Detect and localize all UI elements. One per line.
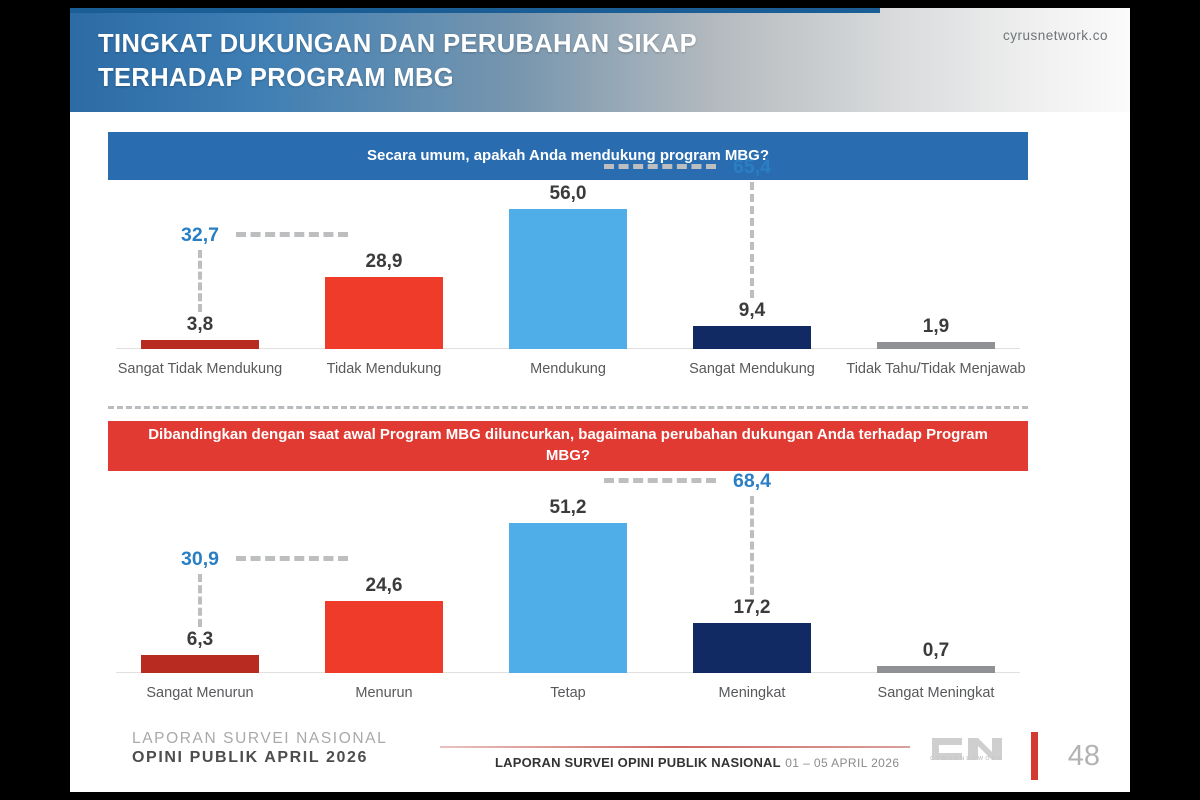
bar[interactable] <box>877 342 995 349</box>
bar[interactable] <box>141 655 259 673</box>
bar-group: 1,9Tidak Tahu/Tidak Menjawab <box>844 184 1028 406</box>
combined-value-label: 30,9 <box>181 548 219 571</box>
bar[interactable] <box>325 601 443 673</box>
page-title-line-2: TERHADAP PROGRAM MBG <box>98 62 858 96</box>
slide-header: TINGKAT DUKUNGAN DAN PERUBAHAN SIKAP TER… <box>70 8 1130 112</box>
bar-value-label: 3,8 <box>187 314 213 336</box>
category-label: Mendukung <box>476 361 661 379</box>
bar[interactable] <box>693 326 811 350</box>
footer-caption-date: 01 – 05 APRIL 2026 <box>785 756 899 770</box>
footer-report-name-line-2: OPINI PUBLIK APRIL 2026 <box>132 749 368 767</box>
chart-attitude-change: 6,3Sangat Menurun24,6Menurun51,2Tetap17,… <box>108 478 1028 718</box>
bar[interactable] <box>509 523 627 673</box>
bar-value-label: 17,2 <box>734 597 771 619</box>
category-label: Tidak Mendukung <box>292 361 477 379</box>
bar-value-label: 1,9 <box>923 316 949 338</box>
bar[interactable] <box>325 277 443 349</box>
footer-report-name-line-1: LAPORAN SURVEI NASIONAL <box>132 730 387 748</box>
logo-wordmark: CYRUSNETWORK <box>930 756 1004 762</box>
section-divider <box>108 406 1028 409</box>
bar[interactable] <box>141 340 259 350</box>
combined-value-label: 32,7 <box>181 224 219 247</box>
bar-group: 51,2Tetap <box>476 478 660 718</box>
bar-group: 0,7Sangat Meningkat <box>844 478 1028 718</box>
bar-value-label: 51,2 <box>550 497 587 519</box>
combined-value-connector-vertical <box>750 182 754 298</box>
bar-value-label: 6,3 <box>187 629 213 651</box>
category-label: Meningkat <box>660 685 845 703</box>
bar-value-label: 9,4 <box>739 300 765 322</box>
footer-rule <box>440 746 910 748</box>
combined-value-connector-vertical <box>198 250 202 312</box>
bar-group: 24,6Menurun <box>292 478 476 718</box>
chart-support-level: 3,8Sangat Tidak Mendukung28,9Tidak Mendu… <box>108 184 1028 406</box>
combined-value-connector-horizontal <box>236 556 348 561</box>
site-url: cyrusnetwork.co <box>1003 28 1108 43</box>
bar-group: 28,9Tidak Mendukung <box>292 184 476 406</box>
category-label: Tidak Tahu/Tidak Menjawab <box>844 361 1029 379</box>
footer-caption-strong: LAPORAN SURVEI OPINI PUBLIK NASIONAL <box>495 755 781 770</box>
combined-value-connector-vertical <box>750 496 754 595</box>
combined-value-connector-horizontal <box>604 164 716 169</box>
bar-group: 56,0Mendukung <box>476 184 660 406</box>
combined-value-label: 68,4 <box>733 470 771 493</box>
slide: TINGKAT DUKUNGAN DAN PERUBAHAN SIKAP TER… <box>70 8 1130 792</box>
question-band-1: Secara umum, apakah Anda mendukung progr… <box>108 132 1028 180</box>
bar[interactable] <box>877 666 995 673</box>
page-number: 48 <box>1068 740 1100 773</box>
category-label: Sangat Tidak Mendukung <box>108 361 293 379</box>
question-band-2: Dibandingkan dengan saat awal Program MB… <box>108 421 1028 471</box>
page-title: TINGKAT DUKUNGAN DAN PERUBAHAN SIKAP TER… <box>98 28 858 95</box>
page-title-line-1: TINGKAT DUKUNGAN DAN PERUBAHAN SIKAP <box>98 28 858 62</box>
bar-value-label: 24,6 <box>366 575 403 597</box>
combined-value-connector-horizontal <box>604 478 716 483</box>
footer-accent-bar <box>1031 732 1038 780</box>
category-label: Sangat Meningkat <box>844 685 1029 703</box>
header-accent-line <box>70 8 880 13</box>
slide-footer: LAPORAN SURVEI NASIONAL OPINI PUBLIK APR… <box>70 718 1130 792</box>
footer-caption: LAPORAN SURVEI OPINI PUBLIK NASIONAL 01 … <box>495 754 899 772</box>
bar-value-label: 0,7 <box>923 640 949 662</box>
bar[interactable] <box>693 623 811 673</box>
combined-value-label: 65,4 <box>733 156 771 179</box>
category-label: Sangat Mendukung <box>660 361 845 379</box>
bar-value-label: 28,9 <box>366 251 403 273</box>
category-label: Tetap <box>476 685 661 703</box>
category-label: Menurun <box>292 685 477 703</box>
bar[interactable] <box>509 209 627 349</box>
cyrusnetwork-logo-icon: CYRUSNETWORK <box>928 734 1012 778</box>
category-label: Sangat Menurun <box>108 685 293 703</box>
combined-value-connector-horizontal <box>236 232 348 237</box>
combined-value-connector-vertical <box>198 574 202 627</box>
bar-value-label: 56,0 <box>550 183 587 205</box>
